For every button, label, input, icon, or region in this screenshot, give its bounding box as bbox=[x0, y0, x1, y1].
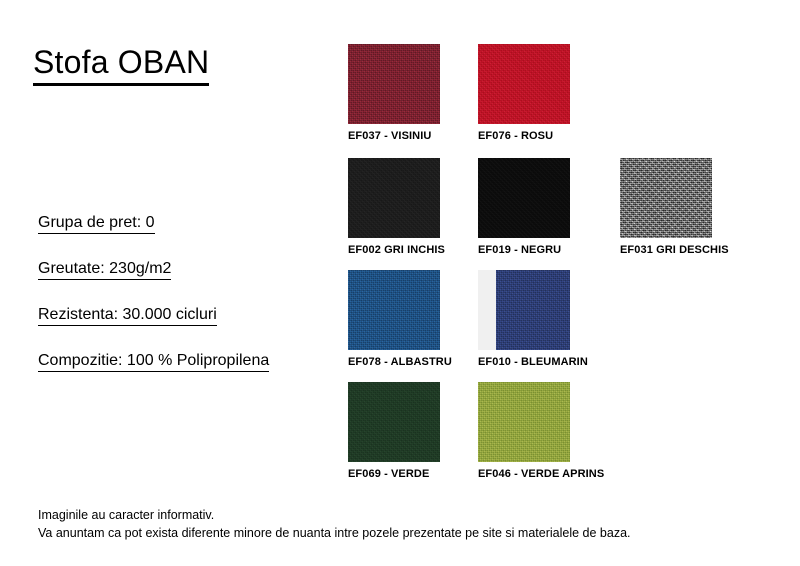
swatch-chip-ef019[interactable] bbox=[478, 158, 570, 238]
swatch-label-ef031: EF031 GRI DESCHIS bbox=[620, 243, 729, 257]
disclaimer-line-1: Imaginile au caracter informativ. bbox=[38, 506, 631, 524]
swatch-cell-ef078[interactable]: EF078 - ALBASTRU bbox=[348, 270, 452, 369]
spec-resistance: Rezistenta: 30.000 cicluri bbox=[38, 304, 217, 326]
swatch-chip-ef076[interactable] bbox=[478, 44, 570, 124]
swatch-cell-ef031[interactable]: EF031 GRI DESCHIS bbox=[620, 158, 729, 257]
spec-composition: Compozitie: 100 % Polipropilena bbox=[38, 350, 269, 372]
swatch-label-ef069: EF069 - VERDE bbox=[348, 467, 440, 481]
disclaimer-line-2: Va anuntam ca pot exista diferente minor… bbox=[38, 524, 631, 542]
swatch-label-ef019: EF019 - NEGRU bbox=[478, 243, 570, 257]
fabric-spec-sheet: Stofa OBAN Grupa de pret: 0 Greutate: 23… bbox=[0, 0, 800, 566]
spec-price-group: Grupa de pret: 0 bbox=[38, 212, 155, 234]
page-title: Stofa OBAN bbox=[33, 42, 209, 86]
swatch-cell-ef069[interactable]: EF069 - VERDE bbox=[348, 382, 440, 481]
swatch-chip-ef037[interactable] bbox=[348, 44, 440, 124]
disclaimer-footer: Imaginile au caracter informativ. Va anu… bbox=[38, 506, 631, 542]
swatch-cell-ef046[interactable]: EF046 - VERDE APRINS bbox=[478, 382, 604, 481]
swatch-cell-ef019[interactable]: EF019 - NEGRU bbox=[478, 158, 570, 257]
swatch-label-ef078: EF078 - ALBASTRU bbox=[348, 355, 452, 369]
swatch-cell-ef002[interactable]: EF002 GRI INCHIS bbox=[348, 158, 445, 257]
swatch-cell-ef076[interactable]: EF076 - ROSU bbox=[478, 44, 570, 143]
swatch-chip-ef010[interactable] bbox=[496, 270, 570, 350]
swatch-label-ef010: EF010 - BLEUMARIN bbox=[478, 355, 588, 369]
swatch-label-ef046: EF046 - VERDE APRINS bbox=[478, 467, 604, 481]
swatch-chip-ef002[interactable] bbox=[348, 158, 440, 238]
swatch-chip-ef031[interactable] bbox=[620, 158, 712, 238]
spec-weight: Greutate: 230g/m2 bbox=[38, 258, 171, 280]
swatch-chip-ef078[interactable] bbox=[348, 270, 440, 350]
swatch-cell-ef037[interactable]: EF037 - VISINIU bbox=[348, 44, 440, 143]
swatch-label-ef037: EF037 - VISINIU bbox=[348, 129, 440, 143]
specifications-list: Grupa de pret: 0 Greutate: 230g/m2 Rezis… bbox=[38, 212, 328, 372]
swatch-label-ef076: EF076 - ROSU bbox=[478, 129, 570, 143]
swatch-chip-wrap-ef010 bbox=[478, 270, 570, 350]
swatch-chip-ef046[interactable] bbox=[478, 382, 570, 462]
swatch-label-ef002: EF002 GRI INCHIS bbox=[348, 243, 445, 257]
swatch-cell-ef010[interactable]: EF010 - BLEUMARIN bbox=[478, 270, 588, 369]
swatch-chip-ef069[interactable] bbox=[348, 382, 440, 462]
